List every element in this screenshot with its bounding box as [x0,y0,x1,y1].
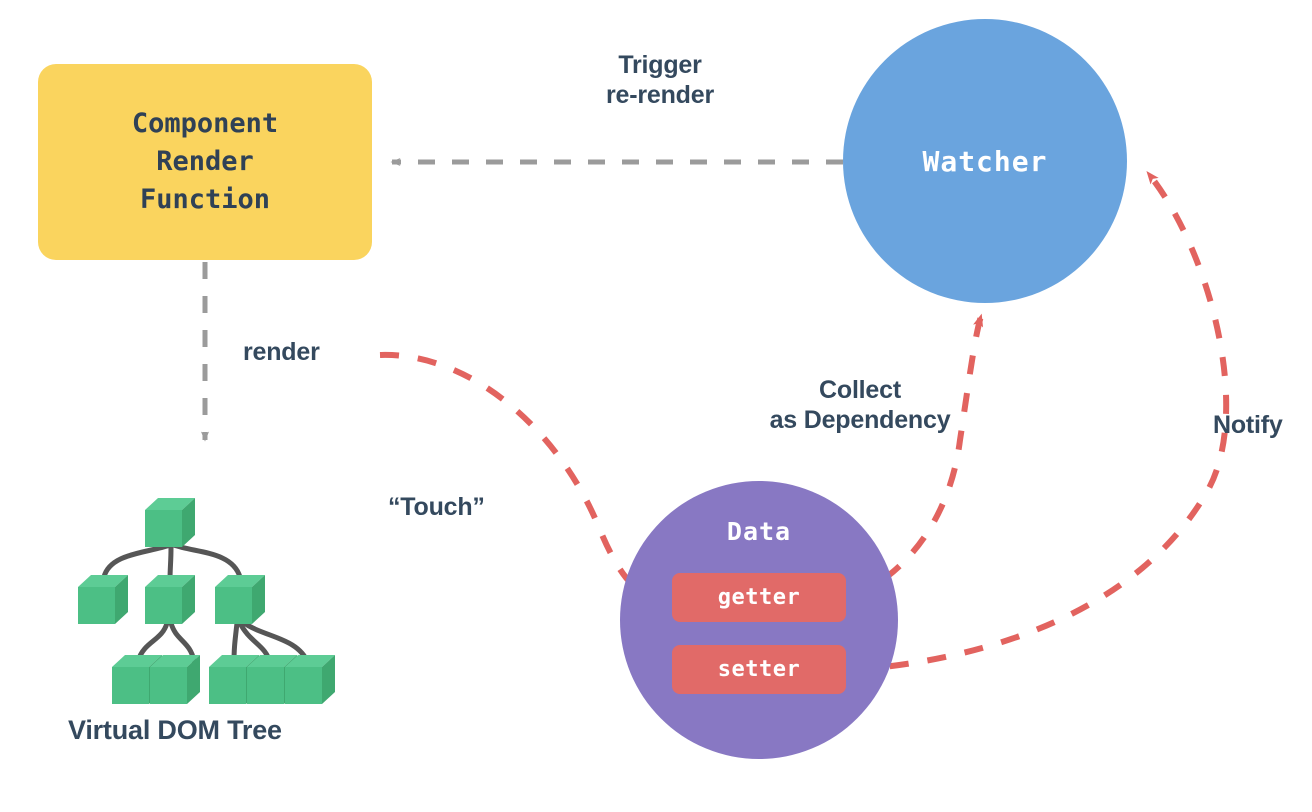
edge-label-notify: Notify [1213,410,1283,440]
virtual-dom-tree-caption: Virtual DOM Tree [68,715,282,746]
tree-cube-root [145,498,195,547]
data-node[interactable]: Data getter setter [620,481,898,759]
tree-cube-child-2 [145,575,195,624]
edge-label-collect-as-dependency: Collect as Dependency [760,375,960,435]
virtual-dom-tree-svg [70,495,340,710]
tree-cube-child-3 [215,575,265,624]
watcher-node[interactable]: Watcher [843,19,1127,303]
tree-links [104,545,308,663]
tree-cube-leaf-5 [285,655,335,704]
edge-label-trigger-re-render: Trigger re-render [570,50,750,110]
virtual-dom-tree-graphic [70,495,340,710]
data-label: Data [620,517,898,546]
edge-label-touch: “Touch” [388,492,485,522]
component-render-function-node[interactable]: Component Render Function [38,64,372,260]
getter-box[interactable]: getter [672,573,846,622]
edge-touch [380,355,648,596]
diagram-canvas: Component Render Function Watcher Data g… [0,0,1312,812]
tree-cube-leaf-2 [150,655,200,704]
tree-cube-child-1 [78,575,128,624]
setter-box[interactable]: setter [672,645,846,694]
component-render-function-label: Component Render Function [132,105,278,220]
edge-label-render: render [243,337,320,367]
watcher-label: Watcher [922,145,1047,178]
